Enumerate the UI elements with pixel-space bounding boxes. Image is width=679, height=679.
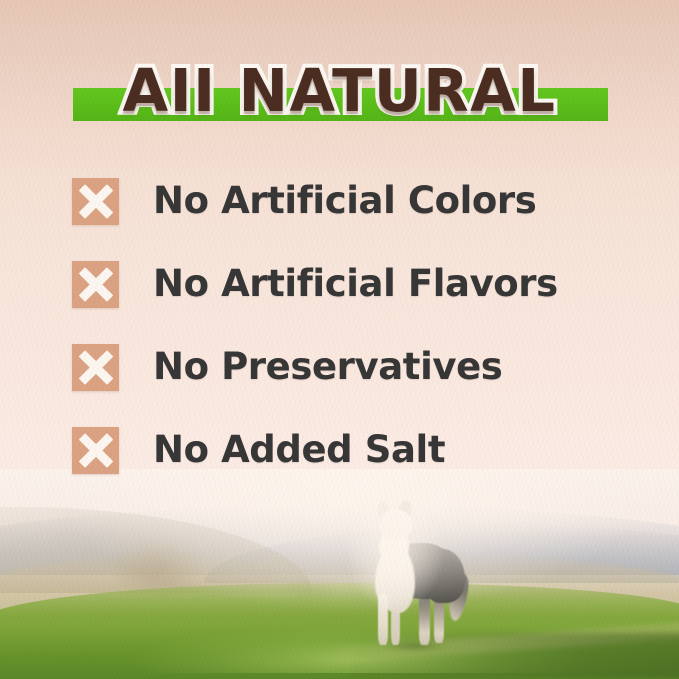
claim-label-preservatives: No Preservatives (153, 344, 502, 390)
page-title: AII NATURAL (0, 52, 679, 130)
list-item: No Artificial Colors (72, 178, 642, 261)
dog-front-left-leg (378, 593, 388, 645)
claims-list: No Artificial Colors No Artificial Flavo… (72, 178, 642, 510)
title-banner: AII NATURAL (0, 52, 679, 136)
x-mark-icon (72, 427, 119, 474)
list-item: No Added Salt (72, 427, 642, 510)
dog-back-left-leg (419, 595, 430, 645)
claim-label-colors: No Artificial Colors (153, 178, 536, 224)
claim-label-flavors: No Artificial Flavors (153, 261, 558, 307)
dog-muzzle (382, 523, 400, 539)
claim-label-salt: No Added Salt (153, 427, 445, 473)
poster-canvas: AII NATURAL No Artificial Colors No Arti… (0, 0, 679, 679)
x-mark-icon (72, 178, 119, 225)
x-mark-icon (72, 344, 119, 391)
x-mark-icon (72, 261, 119, 308)
dog-photo-subject (355, 499, 475, 651)
list-item: No Preservatives (72, 344, 642, 427)
list-item: No Artificial Flavors (72, 261, 642, 344)
